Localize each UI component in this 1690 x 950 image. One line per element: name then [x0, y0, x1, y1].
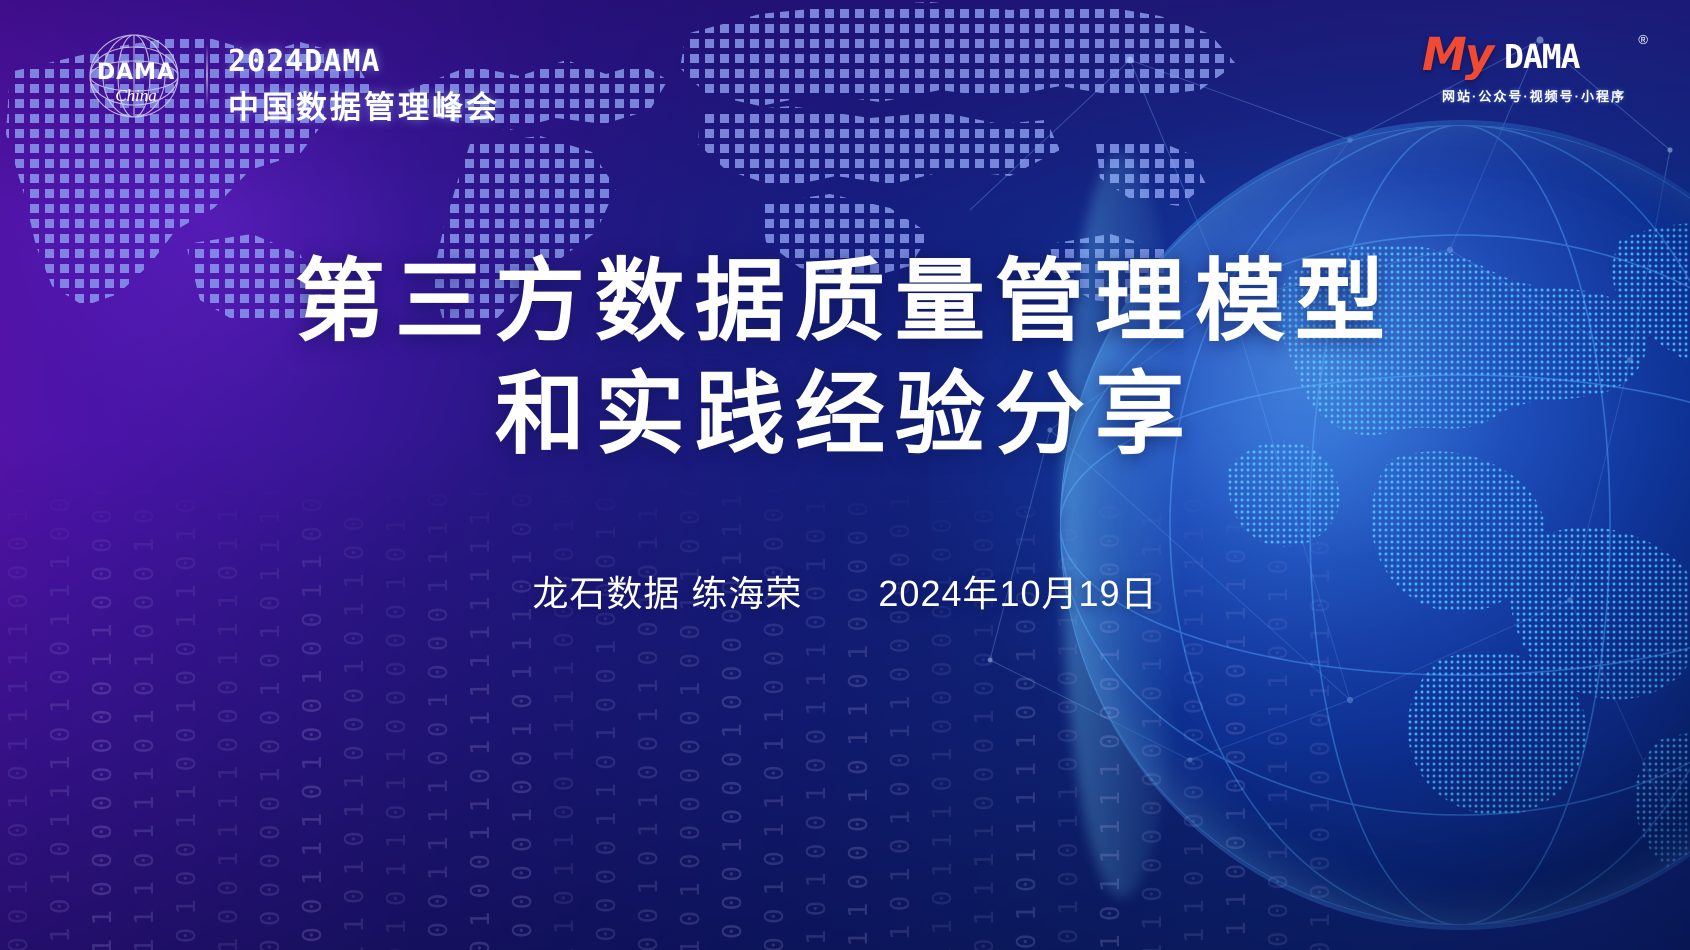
- mydama-wordmark: My DAMA ®: [1418, 30, 1648, 84]
- binary-column: 1011101111100010100010: [1098, 480, 1124, 950]
- slide-meta: 龙石数据 练海荣 2024年10月19日: [0, 565, 1690, 617]
- binary-column: 0101001100001110011101: [1056, 480, 1082, 950]
- mydama-channels: 网站·公众号·视频号·小程序: [1442, 86, 1626, 105]
- registered-mark-icon: ®: [1638, 32, 1648, 47]
- binary-column: 0010010011011111111100: [468, 480, 494, 950]
- binary-column: 1011111000000001100000: [90, 480, 116, 950]
- presentation-slide: 0100001001011111000101001010101110100111…: [0, 0, 1690, 950]
- binary-column: 1100101100110010111111: [636, 480, 662, 950]
- binary-column: 0100001001011111000101: [6, 480, 32, 950]
- binary-column: 0010100100111001011100: [804, 480, 830, 950]
- binary-column: 1110101111100100110101: [1014, 480, 1040, 950]
- date-label: 2024年10月19日: [878, 565, 1157, 617]
- binary-column: 0011110001011010000010: [846, 480, 872, 950]
- binary-column: 0110000000100101011101: [258, 480, 284, 950]
- binary-column: 1101101000000011110000: [1182, 480, 1208, 950]
- logo-divider: [206, 44, 208, 106]
- binary-column: 0101101011000101100110: [342, 480, 368, 950]
- binary-column: 1101110100000010011000: [678, 480, 704, 950]
- binary-column: 0010101011101001110000: [48, 480, 74, 950]
- dama-mark-text: DAMA: [92, 60, 180, 85]
- binary-column: 0010001011011000000000: [762, 480, 788, 950]
- binary-column: 1011101110100000100000: [930, 480, 956, 950]
- mydama-name: DAMA: [1504, 37, 1579, 76]
- dama-mark-subtext: China: [92, 86, 180, 106]
- binary-column: 1010001110100100110000: [300, 480, 326, 950]
- binary-column: 0001000001001011101001: [510, 480, 536, 950]
- binary-column: 1111111000000101000110: [1140, 480, 1166, 950]
- binary-column: 1111001111001000111011: [426, 480, 452, 950]
- presenter-label: 龙石数据 练海荣: [532, 565, 802, 617]
- summit-title-cn: 中国数据管理峰会: [228, 82, 500, 127]
- binary-column: 0000101101100000101110: [384, 480, 410, 950]
- binary-column: 1011001000100011101010: [1308, 480, 1330, 950]
- mydama-prefix: My: [1422, 28, 1492, 81]
- title-line-2: 和实践经验分享: [0, 359, 1690, 472]
- slide-title: 第三方数据质量管理模型 和实践经验分享: [0, 246, 1690, 473]
- binary-column: 0100100110010011010001: [174, 480, 200, 950]
- title-line-1: 第三方数据质量管理模型: [0, 246, 1690, 359]
- binary-column: 0011111011001111000010: [552, 480, 578, 950]
- binary-column: 1010011110001110110100: [216, 480, 242, 950]
- binary-column: 0100000011010010001011: [594, 480, 620, 950]
- binary-column: 0001101111000100110000: [972, 480, 998, 950]
- binary-column: 1100111101110101000100: [132, 480, 158, 950]
- mydama-brand-logo: My DAMA ® 网站·公众号·视频号·小程序: [1418, 30, 1648, 116]
- binary-column: 1010101001100000010000: [888, 480, 914, 950]
- binary-column: 1111100011110110010001: [1266, 480, 1292, 950]
- dama-summit-logo: DAMA China 2024DAMA 中国数据管理峰会: [78, 26, 518, 126]
- binary-code-background: 0100001001011111000101001010101110100111…: [0, 480, 1330, 950]
- binary-column: 0101100010001000001111: [720, 480, 746, 950]
- binary-column: 0111110010000011101001: [1224, 480, 1250, 950]
- summit-title-en: 2024DAMA: [228, 44, 381, 79]
